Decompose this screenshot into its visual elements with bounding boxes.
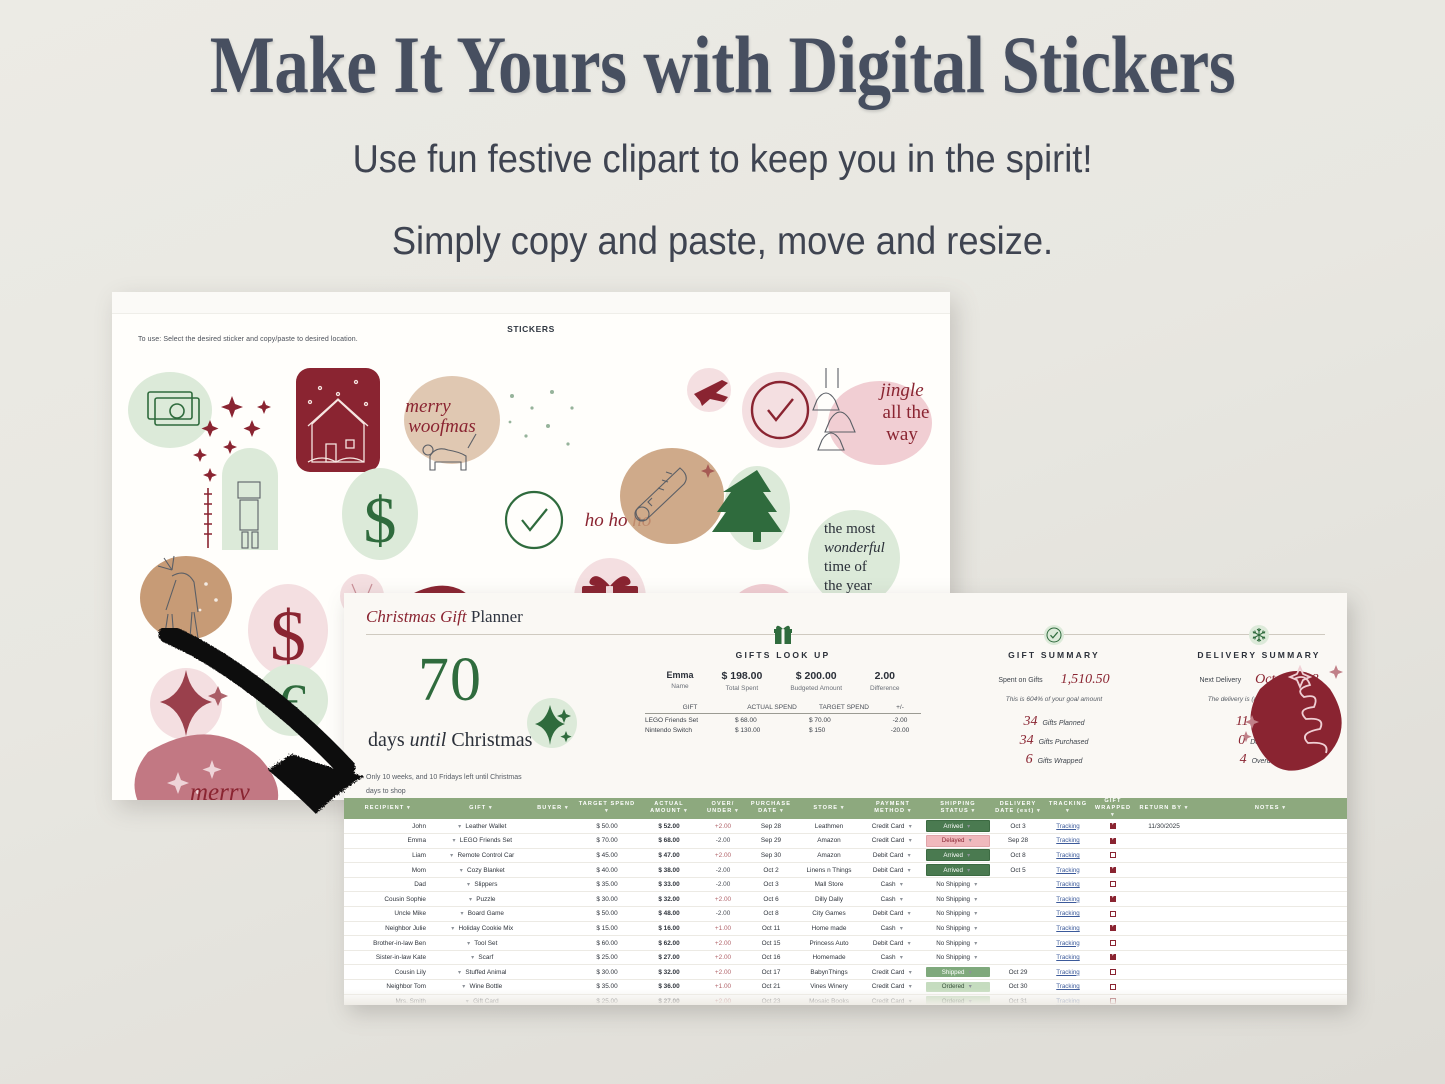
cell-tracking-link[interactable]: Tracking bbox=[1044, 863, 1092, 878]
cell-store[interactable]: Leathmen bbox=[796, 819, 862, 834]
mini-table-row: Nintendo Switch $ 130.00 $ 150 -20.00 bbox=[645, 724, 921, 734]
cell-delivery-date[interactable] bbox=[992, 950, 1044, 965]
cell-purchase-date[interactable]: Oct 16 bbox=[746, 950, 796, 965]
summary-stat: 6 Gifts Wrapped bbox=[946, 752, 1162, 768]
cell-over-under: +2.00 bbox=[700, 819, 746, 834]
cell-shipping-status[interactable]: No Shipping ▾ bbox=[924, 936, 992, 951]
table-header-actual-amount[interactable]: ACTUAL AMOUNT ▾ bbox=[638, 798, 700, 819]
cell-shipping-status[interactable]: Shipped ▾ bbox=[924, 965, 992, 980]
cell-payment-method[interactable]: Cash ▾ bbox=[862, 950, 924, 965]
cell-shipping-status[interactable]: Arrived ▾ bbox=[924, 819, 992, 834]
cell-actual-amount[interactable]: $ 62.00 bbox=[638, 936, 700, 951]
cell-delivery-date[interactable] bbox=[992, 907, 1044, 922]
cell-store[interactable]: Mall Store bbox=[796, 877, 862, 892]
lookup-value: $ 200.00 bbox=[790, 670, 842, 682]
cell-tracking-link[interactable]: Tracking bbox=[1044, 848, 1092, 863]
cell-gift[interactable]: ▾ Stuffed Animal bbox=[432, 965, 530, 980]
filter-arrow-icon[interactable]: ▾ bbox=[562, 805, 569, 811]
cell-gift[interactable]: ▾ Slippers bbox=[432, 877, 530, 892]
cell-payment-method[interactable]: Cash ▾ bbox=[862, 877, 924, 892]
cell-over-under: +2.00 bbox=[700, 848, 746, 863]
cell-gift[interactable]: ▾ Board Game bbox=[432, 907, 530, 922]
svg-text:wonderful: wonderful bbox=[824, 540, 885, 556]
filter-arrow-icon[interactable]: ▾ bbox=[1280, 805, 1287, 811]
cell-return-by[interactable] bbox=[1134, 921, 1194, 936]
cell-buyer[interactable] bbox=[530, 965, 576, 980]
dashboard-panels: 70 days until Christmas Only 10 weeks, a… bbox=[344, 623, 1347, 798]
spent-value: 1,510.50 bbox=[1061, 672, 1110, 688]
gift-box-icon bbox=[773, 625, 793, 645]
svg-text:jingle: jingle bbox=[877, 380, 923, 401]
lookup-cell[interactable]: Emma Name bbox=[652, 670, 707, 692]
table-row[interactable]: Cousin Lily▾ Stuffed Animal$ 30.00$ 32.0… bbox=[344, 965, 1347, 980]
cell-notes[interactable] bbox=[1194, 834, 1347, 849]
most-wonderful-sticker: the most wonderful time of the year bbox=[808, 510, 900, 606]
cell-target-spend[interactable]: $ 15.00 bbox=[576, 921, 638, 936]
cell-buyer[interactable] bbox=[530, 848, 576, 863]
bells-icon: jingle all the way bbox=[813, 368, 932, 465]
cell-store[interactable]: Linens n Things bbox=[796, 863, 862, 878]
gingerbread-house-icon bbox=[296, 368, 380, 472]
filter-arrow-icon[interactable]: ▾ bbox=[838, 805, 845, 811]
cell-actual-amount[interactable]: $ 33.00 bbox=[638, 877, 700, 892]
table-row[interactable]: Neighbor Julie▾ Holiday Cookie Mix$ 15.0… bbox=[344, 921, 1347, 936]
cell-gift-wrapped-checkbox[interactable] bbox=[1092, 848, 1134, 863]
cell-shipping-status[interactable]: No Shipping ▾ bbox=[924, 907, 992, 922]
table-row[interactable]: Cousin Sophie▾ Puzzle$ 30.00$ 32.00+2.00… bbox=[344, 892, 1347, 907]
summary-stat: 34 Gifts Purchased bbox=[946, 733, 1162, 749]
table-header-tracking[interactable]: TRACKING ▾ bbox=[1044, 798, 1092, 819]
cell-gift-wrapped-checkbox[interactable] bbox=[1092, 936, 1134, 951]
cell-purchase-date[interactable]: Oct 3 bbox=[746, 877, 796, 892]
cell-purchase-date[interactable]: Oct 11 bbox=[746, 921, 796, 936]
countdown-caption-post: Christmas bbox=[446, 729, 532, 751]
cell-actual-amount[interactable]: $ 68.00 bbox=[638, 834, 700, 849]
gifts-lookup-panel: GIFTS LOOK UP Emma Name $ 198.00 Total S… bbox=[630, 625, 936, 734]
cell-store[interactable]: City Games bbox=[796, 907, 862, 922]
scroll-list-icon bbox=[620, 448, 724, 544]
cell-recipient[interactable]: Liam bbox=[344, 848, 432, 863]
cell-delivery-date[interactable]: Oct 29 bbox=[992, 965, 1044, 980]
cell-return-by[interactable] bbox=[1134, 892, 1194, 907]
cell-return-by[interactable] bbox=[1134, 877, 1194, 892]
gift-summary-panel: GIFT SUMMARY Spent on Gifts 1,510.50 Thi… bbox=[946, 625, 1162, 768]
cell-buyer[interactable] bbox=[530, 936, 576, 951]
lookup-label: Total Spent bbox=[721, 685, 762, 692]
table-header-buyer[interactable]: BUYER ▾ bbox=[530, 798, 576, 819]
lookup-value: $ 198.00 bbox=[721, 670, 762, 682]
mini-col-actual: ACTUAL SPEND bbox=[735, 704, 809, 711]
cell-target-spend[interactable]: $ 40.00 bbox=[576, 863, 638, 878]
filter-arrow-icon[interactable]: ▾ bbox=[969, 808, 976, 814]
table-header-notes[interactable]: NOTES ▾ bbox=[1194, 798, 1347, 819]
cell-target-spend[interactable]: $ 25.00 bbox=[576, 950, 638, 965]
cell-gift[interactable]: ▾ Leather Wallet bbox=[432, 819, 530, 834]
cell-return-by[interactable]: 11/30/2025 bbox=[1134, 819, 1194, 834]
table-header-purchase-date[interactable]: PURCHASE DATE ▾ bbox=[746, 798, 796, 819]
cell-return-by[interactable] bbox=[1134, 950, 1194, 965]
cell-purchase-date[interactable]: Oct 2 bbox=[746, 863, 796, 878]
cell-buyer[interactable] bbox=[530, 907, 576, 922]
cell-purchase-date[interactable]: Oct 8 bbox=[746, 907, 796, 922]
cell-tracking-link[interactable]: Tracking bbox=[1044, 965, 1092, 980]
table-header-target-spend[interactable]: TARGET SPEND ▾ bbox=[576, 798, 638, 819]
cell-gift-wrapped-checkbox[interactable] bbox=[1092, 950, 1134, 965]
check-circle-icon bbox=[742, 372, 818, 448]
lookup-value: 2.00 bbox=[870, 670, 900, 682]
subtitle-primary: Use fun festive clipart to keep you in t… bbox=[51, 138, 1395, 182]
cell-target-spend[interactable]: $ 45.00 bbox=[576, 848, 638, 863]
cell-shipping-status[interactable]: No Shipping ▾ bbox=[924, 921, 992, 936]
cell-target-spend[interactable]: $ 50.00 bbox=[576, 819, 638, 834]
cell-over-under: -2.00 bbox=[700, 834, 746, 849]
check-circle-icon bbox=[1044, 625, 1064, 645]
cell-gift-wrapped-checkbox[interactable] bbox=[1092, 834, 1134, 849]
table-header-shipping-status[interactable]: SHIPPING STATUS ▾ bbox=[924, 798, 992, 819]
cell-gift[interactable]: ▾ LEGO Friends Set bbox=[432, 834, 530, 849]
cell-return-by[interactable] bbox=[1134, 834, 1194, 849]
cell-notes[interactable] bbox=[1194, 907, 1347, 922]
filter-arrow-icon[interactable]: ▾ bbox=[905, 808, 912, 814]
cell-delivery-date[interactable] bbox=[992, 936, 1044, 951]
cell-recipient[interactable]: Dad bbox=[344, 877, 432, 892]
table-row[interactable]: Sister-in-law Kate▾ Scarf$ 25.00$ 27.00+… bbox=[344, 950, 1347, 965]
table-row[interactable]: Dad▾ Slippers$ 35.00$ 33.00-2.00Oct 3Mal… bbox=[344, 877, 1347, 892]
cell-gift[interactable]: ▾ Remote Control Car bbox=[432, 848, 530, 863]
sparkle-star-icon bbox=[526, 697, 578, 749]
sticker-sheet-title: STICKERS bbox=[112, 324, 950, 334]
cell-gift-wrapped-checkbox[interactable] bbox=[1092, 921, 1134, 936]
table-row[interactable]: Brother-in-law Ben▾ Tool Set$ 60.00$ 62.… bbox=[344, 936, 1347, 951]
gifts-lookup-cells: Emma Name $ 198.00 Total Spent $ 200.00 … bbox=[630, 670, 936, 692]
cell-payment-method[interactable]: Debit Card ▾ bbox=[862, 936, 924, 951]
cell-payment-method[interactable]: Credit Card ▾ bbox=[862, 819, 924, 834]
cell-gift[interactable]: ▾ Scarf bbox=[432, 950, 530, 965]
mini-col-diff: +/- bbox=[879, 704, 921, 711]
cell-purchase-date[interactable]: Oct 15 bbox=[746, 936, 796, 951]
lookup-cell: $ 198.00 Total Spent bbox=[707, 670, 776, 692]
cell-over-under: +2.00 bbox=[700, 965, 746, 980]
cell-buyer[interactable] bbox=[530, 921, 576, 936]
lookup-label: Budgeted Amount bbox=[790, 685, 842, 692]
cell-notes[interactable] bbox=[1194, 892, 1347, 907]
svg-text:the year: the year bbox=[824, 578, 872, 594]
cell-payment-method[interactable]: Credit Card ▾ bbox=[862, 834, 924, 849]
cell-notes[interactable] bbox=[1194, 921, 1347, 936]
filter-arrow-icon[interactable]: ▾ bbox=[1066, 808, 1070, 814]
cell-recipient[interactable]: Mom bbox=[344, 863, 432, 878]
doodle-tree-icon bbox=[1244, 643, 1347, 783]
cell-recipient[interactable]: Neighbor Julie bbox=[344, 921, 432, 936]
cell-store[interactable]: Home made bbox=[796, 921, 862, 936]
lookup-label: Difference bbox=[870, 685, 900, 692]
cell-recipient[interactable]: Sister-in-law Kate bbox=[344, 950, 432, 965]
cell-delivery-date[interactable]: Oct 8 bbox=[992, 848, 1044, 863]
cell-buyer[interactable] bbox=[530, 892, 576, 907]
lookup-mini-table: GIFT ACTUAL SPEND TARGET SPEND +/- LEGO … bbox=[645, 704, 921, 734]
gift-table-element: RECIPIENT ▾GIFT ▾BUYER ▾TARGET SPEND ▾AC… bbox=[344, 798, 1347, 1005]
table-scroll-region[interactable]: RECIPIENT ▾GIFT ▾BUYER ▾TARGET SPEND ▾AC… bbox=[344, 798, 1347, 1005]
cell-delivery-date[interactable]: Sep 28 bbox=[992, 834, 1044, 849]
svg-text:merry: merry bbox=[405, 396, 451, 417]
filter-arrow-icon[interactable]: ▾ bbox=[1111, 812, 1115, 818]
cash-bills-icon bbox=[128, 372, 212, 448]
cell-actual-amount[interactable]: $ 38.00 bbox=[638, 863, 700, 878]
goal-note: This is 604% of your goal amount bbox=[946, 696, 1162, 703]
table-row[interactable]: Uncle Mike▾ Board Game$ 50.00$ 48.00-2.0… bbox=[344, 907, 1347, 922]
cell-delivery-date[interactable]: Oct 3 bbox=[992, 819, 1044, 834]
cell-shipping-status[interactable]: No Shipping ▾ bbox=[924, 950, 992, 965]
cell-target-spend[interactable]: $ 70.00 bbox=[576, 834, 638, 849]
filter-arrow-icon[interactable]: ▾ bbox=[605, 808, 609, 814]
dollar-sign-icon: $ bbox=[342, 468, 418, 560]
gift-table[interactable]: RECIPIENT ▾GIFT ▾BUYER ▾TARGET SPEND ▾AC… bbox=[344, 798, 1347, 1005]
cell-recipient[interactable]: Cousin Sophie bbox=[344, 892, 432, 907]
cell-gift[interactable]: ▾ Tool Set bbox=[432, 936, 530, 951]
cell-return-by[interactable] bbox=[1134, 965, 1194, 980]
cell-purchase-date[interactable]: Sep 28 bbox=[746, 819, 796, 834]
cell-tracking-link[interactable]: Tracking bbox=[1044, 834, 1092, 849]
table-row[interactable]: John▾ Leather Wallet$ 50.00$ 52.00+2.00S… bbox=[344, 819, 1347, 834]
cell-gift[interactable]: ▾ Puzzle bbox=[432, 892, 530, 907]
sticker-sheet-topbar bbox=[112, 292, 950, 314]
cell-store[interactable]: Dilly Dally bbox=[796, 892, 862, 907]
pointer-arrow-icon bbox=[150, 628, 440, 818]
cell-payment-method[interactable]: Debit Card ▾ bbox=[862, 863, 924, 878]
svg-text:time of: time of bbox=[824, 559, 867, 575]
cell-shipping-status[interactable]: Delayed ▾ bbox=[924, 834, 992, 849]
nutcracker-icon bbox=[204, 448, 278, 550]
cell-recipient[interactable]: Uncle Mike bbox=[344, 907, 432, 922]
cell-target-spend[interactable]: $ 60.00 bbox=[576, 936, 638, 951]
svg-text:the most: the most bbox=[824, 521, 876, 537]
table-body[interactable]: John▾ Leather Wallet$ 50.00$ 52.00+2.00S… bbox=[344, 819, 1347, 1005]
cell-payment-method[interactable]: Debit Card ▾ bbox=[862, 907, 924, 922]
cell-tracking-link[interactable]: Tracking bbox=[1044, 950, 1092, 965]
cell-payment-method[interactable]: Cash ▾ bbox=[862, 921, 924, 936]
lookup-label: Name bbox=[666, 683, 693, 690]
cell-actual-amount[interactable]: $ 16.00 bbox=[638, 921, 700, 936]
table-header-payment-method[interactable]: PAYMENT METHOD ▾ bbox=[862, 798, 924, 819]
cell-delivery-date[interactable]: Oct 5 bbox=[992, 863, 1044, 878]
cell-over-under: +2.00 bbox=[700, 950, 746, 965]
snowflake-icon bbox=[1249, 625, 1269, 645]
cell-shipping-status[interactable]: Arrived ▾ bbox=[924, 863, 992, 878]
cell-purchase-date[interactable]: Sep 29 bbox=[746, 834, 796, 849]
cell-return-by[interactable] bbox=[1134, 848, 1194, 863]
cell-delivery-date[interactable] bbox=[992, 921, 1044, 936]
cell-actual-amount[interactable]: $ 52.00 bbox=[638, 819, 700, 834]
cell-over-under: +2.00 bbox=[700, 892, 746, 907]
christmas-tree-icon bbox=[712, 466, 790, 550]
merry-woofmas-sticker: merry woofmas bbox=[404, 376, 574, 470]
table-header-row[interactable]: RECIPIENT ▾GIFT ▾BUYER ▾TARGET SPEND ▾AC… bbox=[344, 798, 1347, 819]
cell-shipping-status[interactable]: No Shipping ▾ bbox=[924, 892, 992, 907]
cell-store[interactable]: BabynThings bbox=[796, 965, 862, 980]
cell-buyer[interactable] bbox=[530, 950, 576, 965]
filter-arrow-icon[interactable]: ▾ bbox=[1034, 808, 1041, 814]
lookup-value: Emma bbox=[666, 670, 693, 680]
subtitle-secondary: Simply copy and paste, move and resize. bbox=[51, 220, 1395, 264]
mini-table-header: GIFT ACTUAL SPEND TARGET SPEND +/- bbox=[645, 704, 921, 714]
cell-store[interactable]: Amazon bbox=[796, 848, 862, 863]
cell-over-under: +2.00 bbox=[700, 936, 746, 951]
cell-recipient[interactable]: John bbox=[344, 819, 432, 834]
cell-purchase-date[interactable]: Oct 17 bbox=[746, 965, 796, 980]
cell-actual-amount[interactable]: $ 27.00 bbox=[638, 950, 700, 965]
cell-gift-wrapped-checkbox[interactable] bbox=[1092, 907, 1134, 922]
next-delivery-label: Next Delivery bbox=[1199, 677, 1241, 684]
filter-arrow-icon[interactable]: ▾ bbox=[732, 808, 739, 814]
spent-label: Spent on Gifts bbox=[998, 677, 1042, 684]
cell-notes[interactable] bbox=[1194, 819, 1347, 834]
summary-stat: 34 Gifts Planned bbox=[946, 714, 1162, 730]
table-row[interactable]: Liam▾ Remote Control Car$ 45.00$ 47.00+2… bbox=[344, 848, 1347, 863]
filter-arrow-icon[interactable]: ▾ bbox=[486, 805, 493, 811]
cell-notes[interactable] bbox=[1194, 936, 1347, 951]
cell-over-under: -2.00 bbox=[700, 907, 746, 922]
cell-over-under: -2.00 bbox=[700, 863, 746, 878]
page-title: Make It Yours with Digital Stickers bbox=[116, 22, 1330, 108]
gift-planner-spreadsheet[interactable]: Christmas Gift Planner 70 days until Chr… bbox=[344, 593, 1347, 1005]
cell-purchase-date[interactable]: Oct 6 bbox=[746, 892, 796, 907]
cell-notes[interactable] bbox=[1194, 877, 1347, 892]
cell-delivery-date[interactable] bbox=[992, 877, 1044, 892]
cell-return-by[interactable] bbox=[1134, 863, 1194, 878]
cell-store[interactable]: Princess Auto bbox=[796, 936, 862, 951]
cell-notes[interactable] bbox=[1194, 950, 1347, 965]
cell-target-spend[interactable]: $ 35.00 bbox=[576, 877, 638, 892]
cell-return-by[interactable] bbox=[1134, 907, 1194, 922]
cell-buyer[interactable] bbox=[530, 877, 576, 892]
cell-buyer[interactable] bbox=[530, 819, 576, 834]
cell-payment-method[interactable]: Cash ▾ bbox=[862, 892, 924, 907]
table-row[interactable]: Mom▾ Cozy Blanket$ 40.00$ 38.00-2.00Oct … bbox=[344, 863, 1347, 878]
cell-tracking-link[interactable]: Tracking bbox=[1044, 907, 1092, 922]
table-header-gift[interactable]: GIFT ▾ bbox=[432, 798, 530, 819]
cell-gift[interactable]: ▾ Cozy Blanket bbox=[432, 863, 530, 878]
cell-target-spend[interactable]: $ 30.00 bbox=[576, 892, 638, 907]
table-header-return-by[interactable]: RETURN BY ▾ bbox=[1134, 798, 1194, 819]
cell-tracking-link[interactable]: Tracking bbox=[1044, 892, 1092, 907]
cell-gift-wrapped-checkbox[interactable] bbox=[1092, 877, 1134, 892]
cell-recipient[interactable]: Emma bbox=[344, 834, 432, 849]
airplane-icon bbox=[687, 368, 731, 412]
lookup-cell: $ 200.00 Budgeted Amount bbox=[776, 670, 856, 692]
cell-gift-wrapped-checkbox[interactable] bbox=[1092, 863, 1134, 878]
table-row[interactable]: Emma▾ LEGO Friends Set$ 70.00$ 68.00-2.0… bbox=[344, 834, 1347, 849]
table-header-over-under[interactable]: OVER/ UNDER ▾ bbox=[700, 798, 746, 819]
cell-return-by[interactable] bbox=[1134, 936, 1194, 951]
cell-notes[interactable] bbox=[1194, 863, 1347, 878]
filter-arrow-icon[interactable]: ▾ bbox=[681, 808, 688, 814]
cell-notes[interactable] bbox=[1194, 965, 1347, 980]
cell-gift-wrapped-checkbox[interactable] bbox=[1092, 819, 1134, 834]
filter-arrow-icon[interactable]: ▾ bbox=[777, 808, 784, 814]
cell-target-spend[interactable]: $ 30.00 bbox=[576, 965, 638, 980]
table-bottom-fade bbox=[344, 989, 1347, 1005]
cell-actual-amount[interactable]: $ 32.00 bbox=[638, 965, 700, 980]
svg-text:woofmas: woofmas bbox=[408, 416, 476, 437]
cell-buyer[interactable] bbox=[530, 863, 576, 878]
svg-text:all the: all the bbox=[883, 402, 930, 423]
cell-tracking-link[interactable]: Tracking bbox=[1044, 936, 1092, 951]
cell-payment-method[interactable]: Credit Card ▾ bbox=[862, 965, 924, 980]
cell-gift-wrapped-checkbox[interactable] bbox=[1092, 892, 1134, 907]
mini-col-gift: GIFT bbox=[645, 704, 735, 711]
cell-delivery-date[interactable] bbox=[992, 892, 1044, 907]
lookup-cell: 2.00 Difference bbox=[856, 670, 914, 692]
cell-gift-wrapped-checkbox[interactable] bbox=[1092, 965, 1134, 980]
cell-buyer[interactable] bbox=[530, 834, 576, 849]
gift-summary-heading: GIFT SUMMARY bbox=[946, 650, 1162, 660]
filter-arrow-icon[interactable]: ▾ bbox=[1182, 805, 1189, 811]
cell-tracking-link[interactable]: Tracking bbox=[1044, 921, 1092, 936]
cell-actual-amount[interactable]: $ 32.00 bbox=[638, 892, 700, 907]
cell-recipient[interactable]: Cousin Lily bbox=[344, 965, 432, 980]
cell-over-under: +1.00 bbox=[700, 921, 746, 936]
headings-block: Make It Yours with Digital Stickers Use … bbox=[0, 0, 1445, 264]
cell-actual-amount[interactable]: $ 47.00 bbox=[638, 848, 700, 863]
cell-tracking-link[interactable]: Tracking bbox=[1044, 877, 1092, 892]
cell-recipient[interactable]: Brother-in-law Ben bbox=[344, 936, 432, 951]
cell-purchase-date[interactable]: Sep 30 bbox=[746, 848, 796, 863]
cell-target-spend[interactable]: $ 50.00 bbox=[576, 907, 638, 922]
cell-over-under: -2.00 bbox=[700, 877, 746, 892]
cell-payment-method[interactable]: Debit Card ▾ bbox=[862, 848, 924, 863]
table-header-store[interactable]: STORE ▾ bbox=[796, 798, 862, 819]
table-header-gift-wrapped[interactable]: GIFT WRAPPED ▾ bbox=[1092, 798, 1134, 819]
cell-store[interactable]: Homemade bbox=[796, 950, 862, 965]
cell-notes[interactable] bbox=[1194, 848, 1347, 863]
mini-table-row: LEGO Friends Set $ 68.00 $ 70.00 -2.00 bbox=[645, 714, 921, 724]
table-header-delivery-date-est[interactable]: DELIVERY DATE (est) ▾ bbox=[992, 798, 1044, 819]
sticker-sheet-instruction: To use: Select the desired sticker and c… bbox=[138, 336, 358, 343]
svg-text:$: $ bbox=[364, 484, 397, 557]
cell-store[interactable]: Amazon bbox=[796, 834, 862, 849]
gifts-lookup-heading: GIFTS LOOK UP bbox=[630, 650, 936, 660]
svg-text:way: way bbox=[886, 424, 918, 445]
mini-col-target: TARGET SPEND bbox=[809, 704, 879, 711]
cell-actual-amount[interactable]: $ 48.00 bbox=[638, 907, 700, 922]
cell-shipping-status[interactable]: Arrived ▾ bbox=[924, 848, 992, 863]
cell-gift[interactable]: ▾ Holiday Cookie Mix bbox=[432, 921, 530, 936]
check-circle-green-icon bbox=[501, 487, 567, 553]
cell-tracking-link[interactable]: Tracking bbox=[1044, 819, 1092, 834]
cell-shipping-status[interactable]: No Shipping ▾ bbox=[924, 877, 992, 892]
